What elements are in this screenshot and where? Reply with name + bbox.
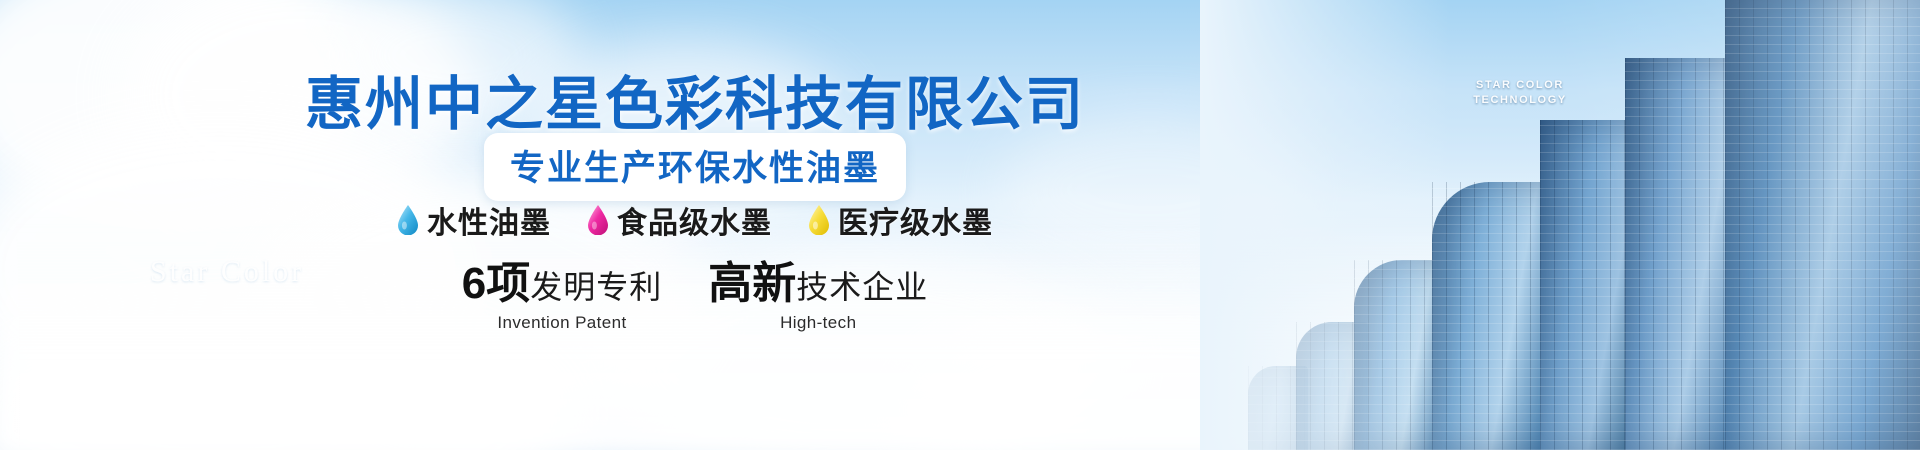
badge-high-tech: 高新技术企业 High-tech	[708, 262, 928, 333]
subtitle-pill: 专业生产环保水性油墨	[484, 133, 906, 201]
page-title: 惠州中之星色彩科技有限公司	[0, 57, 1390, 141]
feature-label: 食品级水墨	[617, 198, 772, 242]
badge-english-text: Invention Patent	[462, 313, 663, 333]
certification-badges: 6项发明专利 Invention Patent 高新技术企业 High-tech	[0, 262, 1390, 333]
subtitle-row: 专业生产环保水性油墨	[0, 133, 1390, 201]
list-item: 医疗级水墨	[808, 198, 993, 242]
badge-chinese-text: 高新技术企业	[708, 262, 928, 306]
feature-label: 医疗级水墨	[838, 198, 993, 242]
badge-chinese-text: 6项发明专利	[462, 262, 663, 306]
feature-list: 水性油墨 食品级水墨	[0, 198, 1390, 242]
list-item: 食品级水墨	[587, 198, 772, 242]
water-drop-icon	[397, 205, 419, 235]
badge-highlight: 6项	[462, 259, 530, 308]
company-hero-banner: Star Color STAR COLOR TECHNOLOGY 惠州中之星色彩…	[0, 0, 1920, 450]
feature-label: 水性油墨	[427, 198, 551, 242]
badge-invention-patent: 6项发明专利 Invention Patent	[462, 262, 663, 333]
banner-content: 惠州中之星色彩科技有限公司 专业生产环保水性油墨	[0, 0, 1920, 450]
badge-highlight: 高新	[708, 259, 796, 308]
list-item: 水性油墨	[397, 198, 551, 242]
badge-rest: 技术企业	[796, 269, 928, 305]
water-drop-icon	[587, 205, 609, 235]
badge-rest: 发明专利	[530, 269, 662, 305]
badge-english-text: High-tech	[708, 313, 928, 333]
water-drop-icon	[808, 205, 830, 235]
